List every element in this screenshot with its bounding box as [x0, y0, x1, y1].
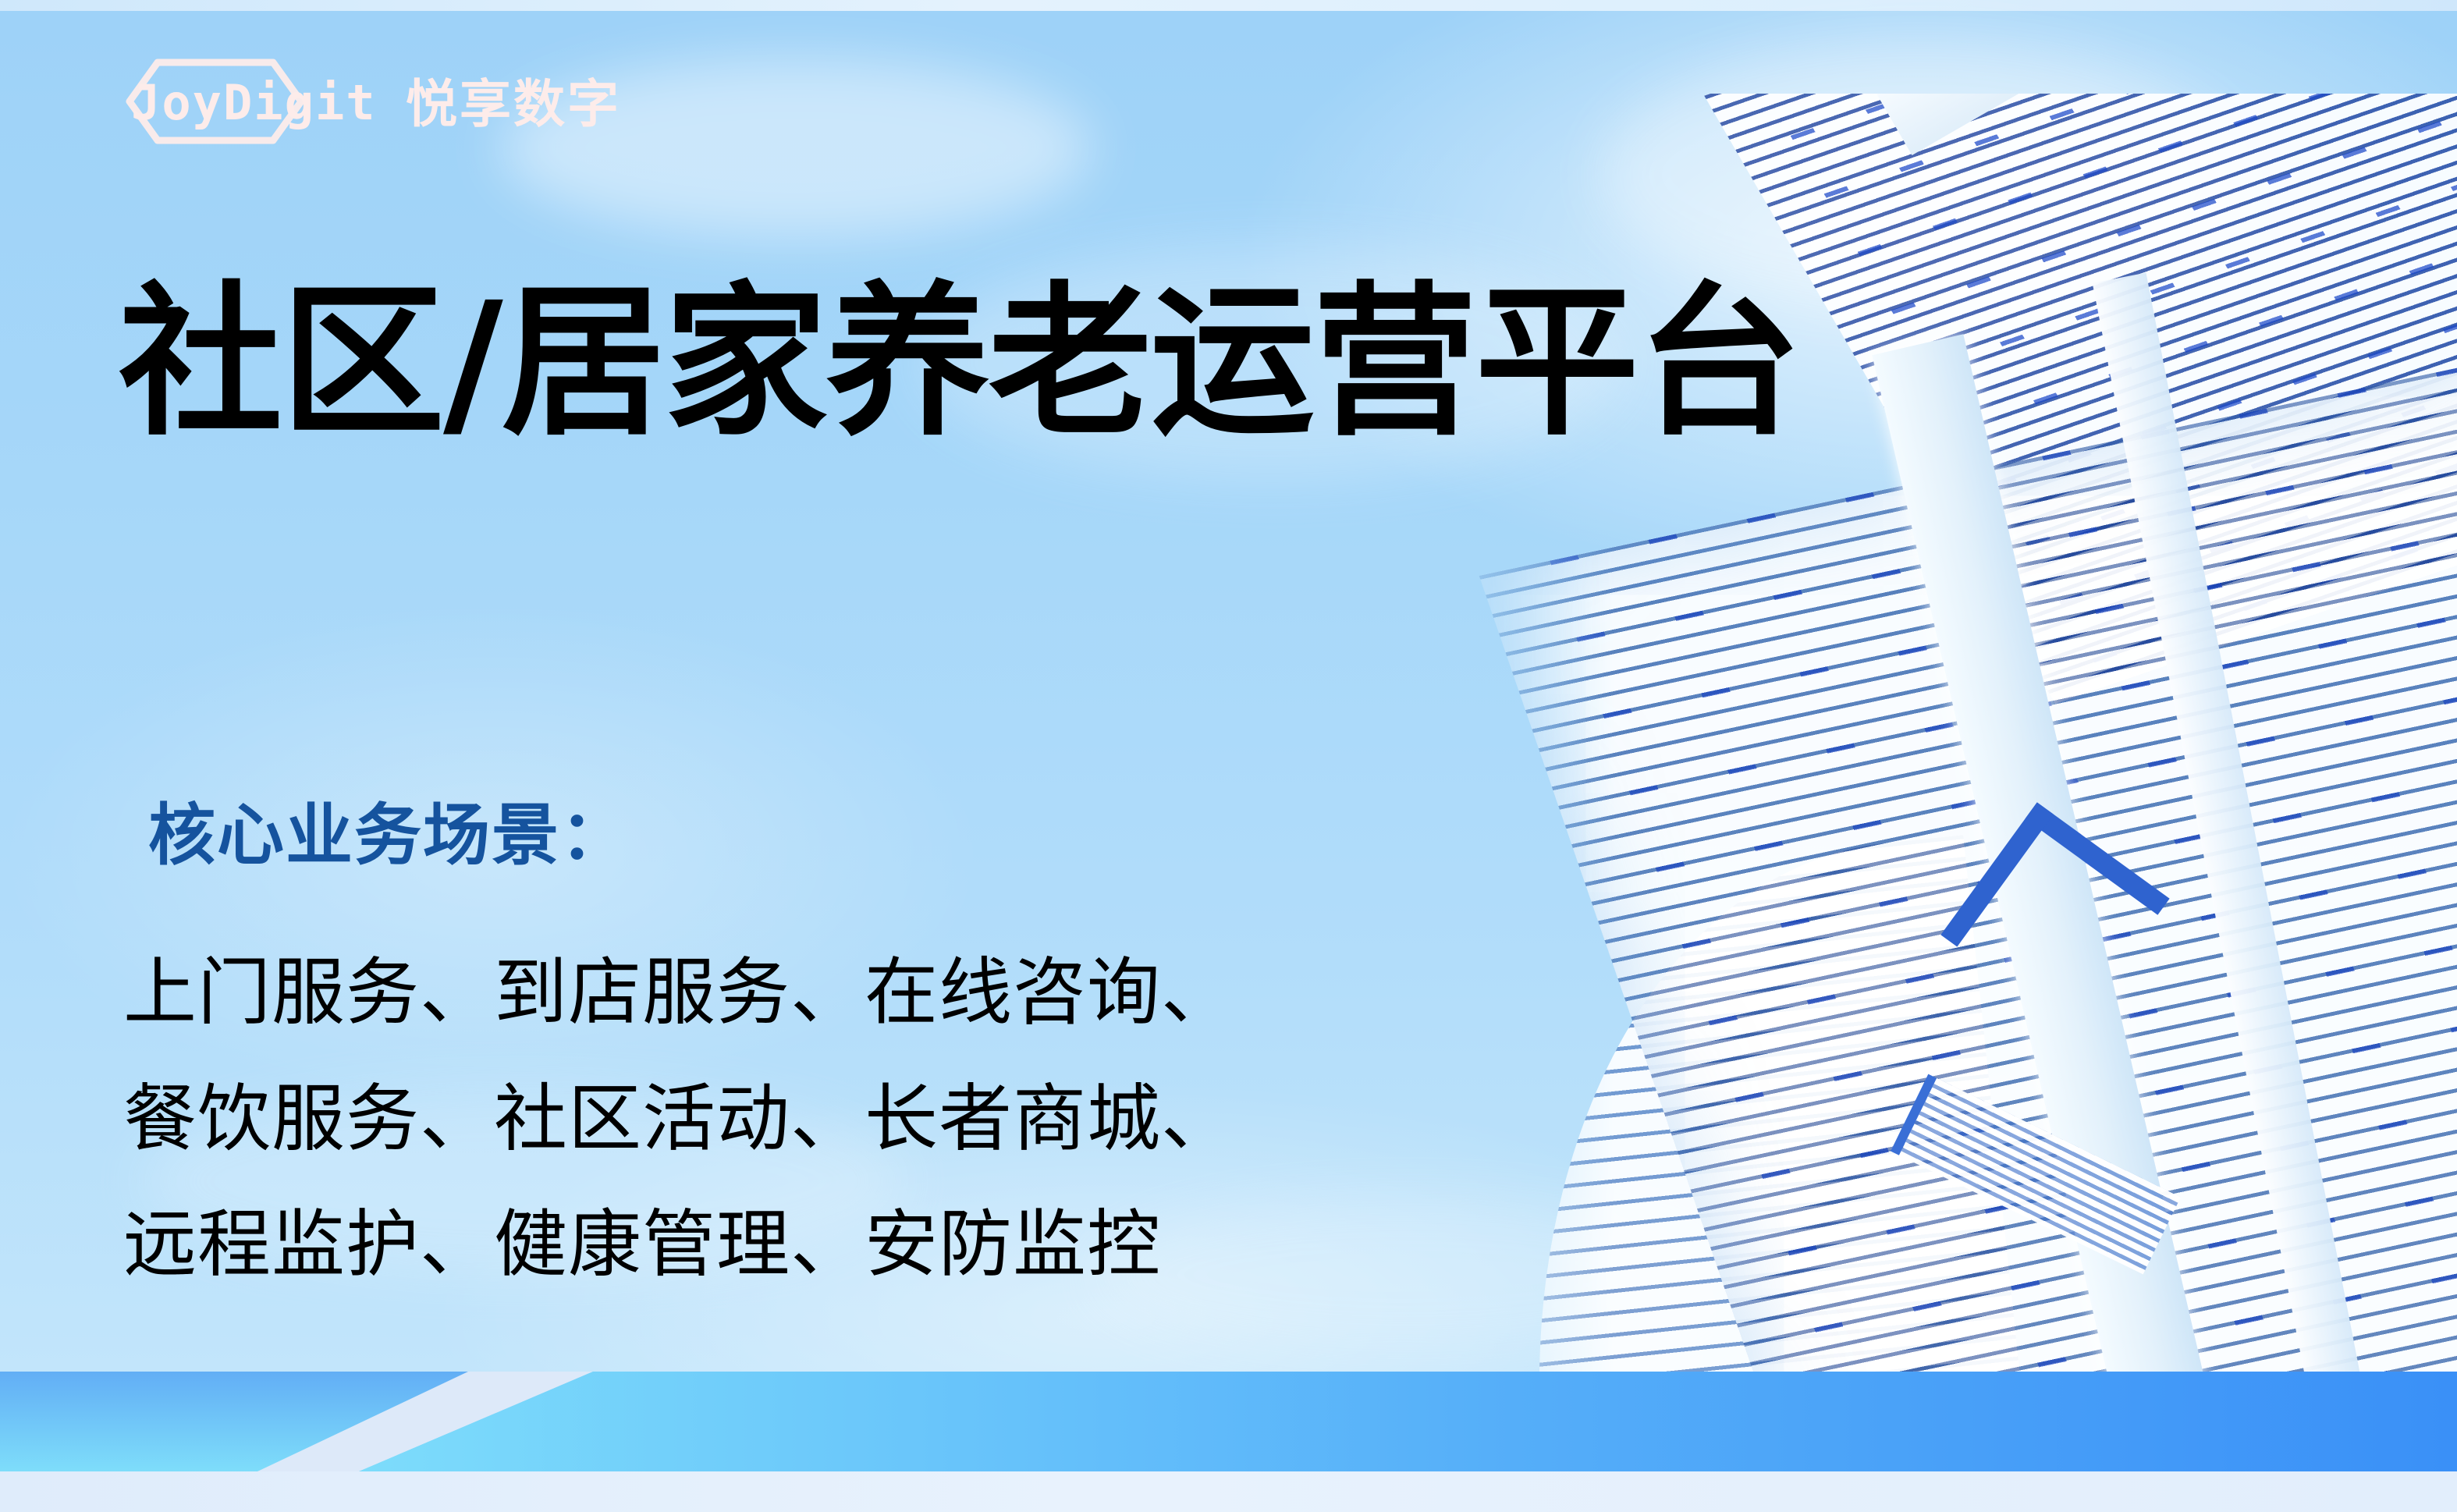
bottom-footer-strip	[0, 1471, 2457, 1512]
scenario-list: 上门服务、到店服务、在线咨询、 餐饮服务、社区活动、长者商城、 远程监护、健康管…	[123, 930, 1235, 1308]
band-right-poly	[359, 1372, 2457, 1471]
scenario-line: 远程监护、健康管理、安防监控	[123, 1182, 1235, 1308]
svg-text:JoyDigit: JoyDigit	[131, 74, 377, 131]
scenario-line: 餐饮服务、社区活动、长者商城、	[123, 1056, 1235, 1183]
slide-canvas: JoyDigit 悦享数字 JoyDigit 悦享数字 社区/居家养老运营平台 …	[0, 0, 2457, 1512]
bottom-decor-band	[0, 1372, 2457, 1471]
svg-text:悦享数字: 悦享数字	[406, 74, 621, 134]
logo-latin-glyphs: JoyDigit	[131, 74, 377, 131]
section-heading: 核心业务场景：	[148, 780, 629, 878]
brand-logo: JoyDigit 悦享数字 JoyDigit 悦享数字	[117, 55, 648, 148]
top-accent-strip	[0, 0, 2457, 11]
scenario-line: 上门服务、到店服务、在线咨询、	[123, 930, 1235, 1056]
page-title: 社区/居家养老运营平台	[119, 275, 1800, 452]
logo-cn-glyphs: 悦享数字	[406, 74, 621, 134]
